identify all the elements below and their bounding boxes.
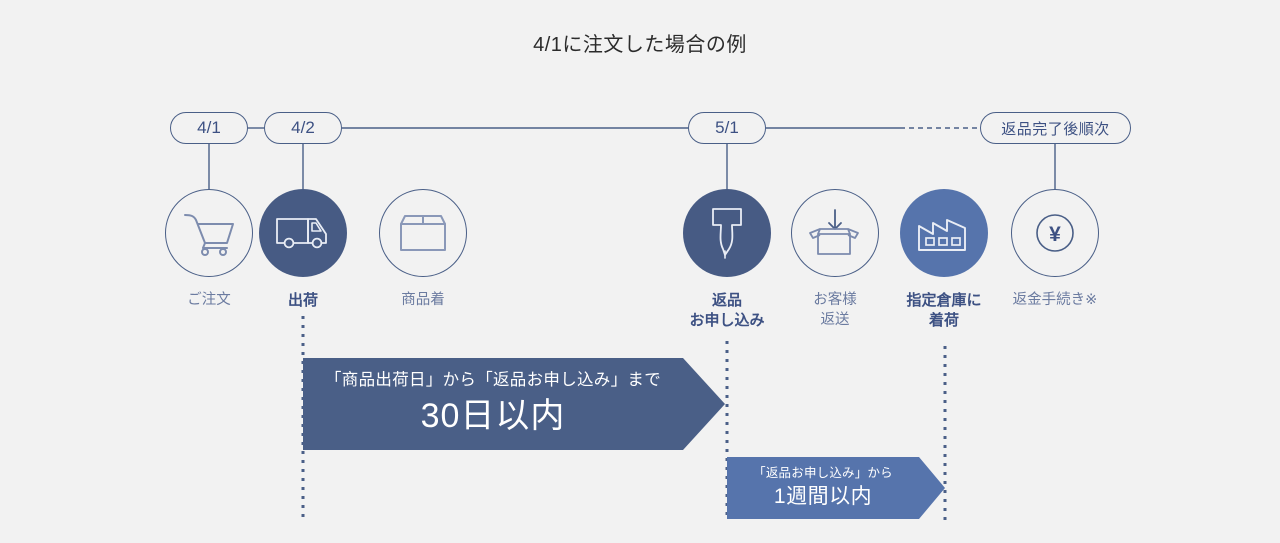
page-title: 4/1に注文した場合の例: [0, 28, 1280, 57]
cursor-click-icon: [705, 205, 749, 261]
step-refund-label: 返金手続き※: [1011, 291, 1099, 311]
factory-icon: [915, 212, 973, 254]
date-pill-label: 返品完了後順次: [1001, 118, 1110, 139]
step-customer-return-label-line2: 返送: [821, 312, 850, 328]
step-refund-label-line: 返金手続き※: [1013, 292, 1098, 308]
step-arrival-label-line: 商品着: [401, 292, 445, 308]
date-pill-5-1: 5/1: [688, 112, 766, 144]
step-arrival: 商品着: [379, 189, 467, 311]
step-warehouse-label-line1: 指定倉庫に: [906, 292, 981, 309]
date-pill-refund-sequential: 返品完了後順次: [980, 112, 1131, 144]
diagram-canvas: 4/1に注文した場合の例 4/1 4/2 5/1 返品完了後順次: [0, 0, 1280, 543]
banner-30-days: 「商品出荷日」から「返品お申し込み」まで 30日以内: [303, 358, 725, 450]
date-pill-label: 5/1: [715, 118, 739, 138]
banner-30-days-subtitle: 「商品出荷日」から「返品お申し込み」まで: [325, 370, 661, 391]
step-customer-return-label-line1: お客様: [813, 292, 857, 308]
step-refund: ¥ 返金手続き※: [1011, 189, 1099, 311]
shopping-cart-icon: [183, 210, 235, 256]
svg-text:¥: ¥: [1049, 223, 1061, 246]
date-pill-4-2: 4/2: [264, 112, 342, 144]
banner-30-days-headline: 30日以内: [325, 395, 661, 438]
step-shipment-label-line: 出荷: [288, 292, 318, 309]
banner-1-week-subtitle: 「返品お申し込み」から: [753, 466, 893, 482]
step-shipment-circle: [259, 189, 347, 277]
step-arrival-circle: [379, 189, 467, 277]
step-warehouse-label-line2: 着荷: [929, 312, 959, 329]
step-shipment: 出荷: [259, 189, 347, 311]
step-return-request-circle: [683, 189, 771, 277]
step-customer-return: お客様 返送: [791, 189, 879, 330]
step-customer-return-label: お客様 返送: [791, 291, 879, 330]
date-pill-label: 4/2: [291, 118, 315, 138]
open-box-down-arrow-icon: [807, 207, 863, 259]
step-shipment-label: 出荷: [259, 291, 347, 311]
step-warehouse-label: 指定倉庫に 着荷: [900, 291, 988, 332]
yen-coin-icon: ¥: [1025, 203, 1085, 263]
step-order: ご注文: [165, 189, 253, 311]
step-warehouse-circle: [900, 189, 988, 277]
date-pill-label: 4/1: [197, 118, 221, 138]
step-return-request-label: 返品 お申し込み: [683, 291, 771, 332]
step-arrival-label: 商品着: [379, 291, 467, 311]
step-order-label-line: ご注文: [187, 292, 231, 308]
step-return-request: 返品 お申し込み: [683, 189, 771, 332]
closed-box-icon: [397, 211, 449, 255]
date-pill-4-1: 4/1: [170, 112, 248, 144]
step-customer-return-circle: [791, 189, 879, 277]
step-order-label: ご注文: [165, 291, 253, 311]
step-return-request-label-line1: 返品: [712, 292, 742, 309]
step-order-circle: [165, 189, 253, 277]
delivery-truck-icon: [275, 213, 331, 253]
step-return-request-label-line2: お申し込み: [689, 312, 764, 329]
banner-1-week-headline: 1週間以内: [753, 484, 893, 510]
step-refund-circle: ¥: [1011, 189, 1099, 277]
step-warehouse: 指定倉庫に 着荷: [900, 189, 988, 332]
banner-1-week: 「返品お申し込み」から 1週間以内: [727, 457, 945, 519]
